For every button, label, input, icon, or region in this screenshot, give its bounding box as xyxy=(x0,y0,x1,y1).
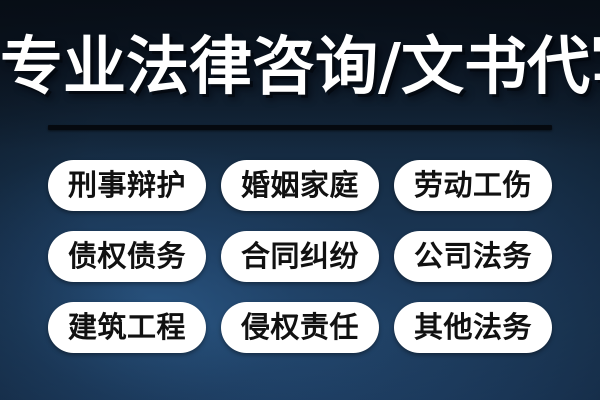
service-pill-construction-engineering[interactable]: 建筑工程 xyxy=(48,302,206,353)
service-pill-contract-dispute[interactable]: 合同纠纷 xyxy=(221,231,379,282)
service-pill-criminal-defense[interactable]: 刑事辩护 xyxy=(48,160,206,211)
service-pill-grid: 刑事辩护 婚姻家庭 劳动工伤 债权债务 合同纠纷 公司法务 建筑工程 侵权责任 … xyxy=(48,160,552,353)
service-pill-tort-liability[interactable]: 侵权责任 xyxy=(221,302,379,353)
service-pill-marriage-family[interactable]: 婚姻家庭 xyxy=(221,160,379,211)
service-pill-creditor-debt[interactable]: 债权债务 xyxy=(48,231,206,282)
legal-services-poster: 专业法律咨询/文书代写 刑事辩护 婚姻家庭 劳动工伤 债权债务 合同纠纷 公司法… xyxy=(0,0,600,400)
service-pill-other-legal[interactable]: 其他法务 xyxy=(394,302,552,353)
headline-title: 专业法律咨询/文书代写 xyxy=(0,28,600,106)
service-pill-row: 债权债务 合同纠纷 公司法务 xyxy=(48,231,552,282)
service-pill-row: 刑事辩护 婚姻家庭 劳动工伤 xyxy=(48,160,552,211)
headline-divider xyxy=(48,125,552,130)
service-pill-row: 建筑工程 侵权责任 其他法务 xyxy=(48,302,552,353)
poster-content: 专业法律咨询/文书代写 刑事辩护 婚姻家庭 劳动工伤 债权债务 合同纠纷 公司法… xyxy=(0,0,600,400)
service-pill-labor-injury[interactable]: 劳动工伤 xyxy=(394,160,552,211)
service-pill-corporate-legal[interactable]: 公司法务 xyxy=(394,231,552,282)
